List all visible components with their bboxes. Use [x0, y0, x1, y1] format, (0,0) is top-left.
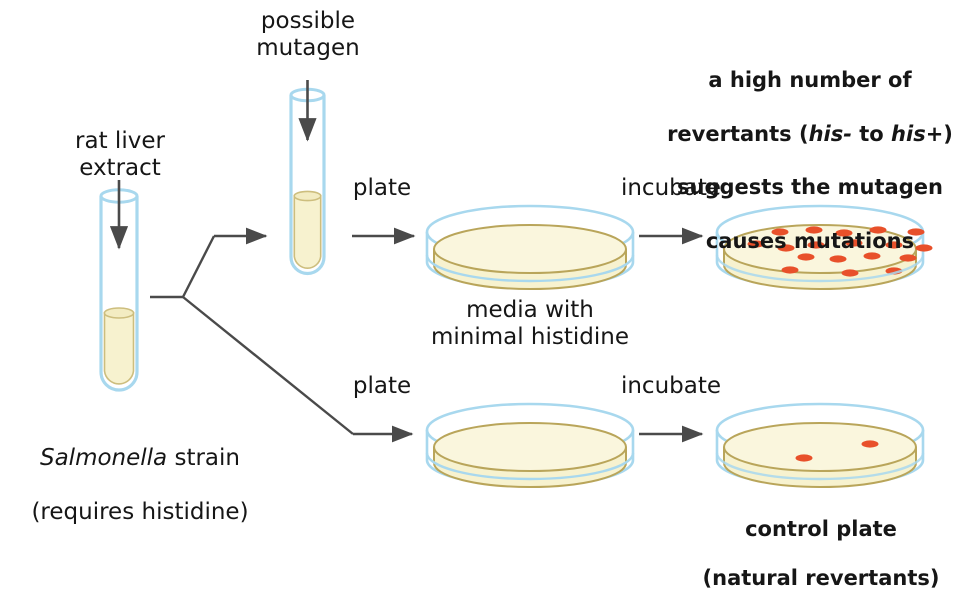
control-plate-caption: control plate (natural revertants) [690, 492, 952, 616]
branch-connector [150, 236, 412, 434]
to-text: to [852, 122, 891, 146]
control-caption-line2: (natural revertants) [690, 566, 952, 591]
colony [862, 440, 879, 447]
salmonella-strain-word: strain [167, 445, 240, 471]
rat-liver-extract-label: rat liver extract [45, 128, 195, 182]
control-plate-before-incubation [427, 404, 633, 487]
conclusion-line-2: revertants (his- to his+) [660, 121, 960, 148]
salmonella-strain-label: Salmonella strain (requires histidine) [10, 418, 270, 554]
his-plus-genotype: his+ [891, 122, 943, 146]
salmonella-test-tube [101, 190, 137, 390]
his-minus-genotype: his- [809, 122, 852, 146]
possible-mutagen-label: possible mutagen [233, 8, 383, 62]
colony [796, 454, 813, 461]
conclusion-line-1: a high number of [660, 67, 960, 94]
plate-label-top: plate [336, 175, 428, 202]
conclusion-line-3: suggests the mutagen [660, 174, 960, 201]
media-caption: media with minimal histidine [400, 297, 660, 351]
revertants-text: revertants ( [667, 122, 809, 146]
mutagen-test-tube [291, 89, 324, 273]
salmonella-genus: Salmonella [40, 445, 167, 471]
incubate-label-bottom: incubate [608, 373, 734, 400]
colony-group-control [796, 440, 879, 461]
salmonella-strain-line2: (requires histidine) [10, 499, 270, 526]
control-caption-line1: control plate [690, 517, 952, 542]
salmonella-strain-line1: Salmonella strain [10, 445, 270, 472]
experimental-plate-before-incubation [427, 206, 633, 289]
conclusion-text: a high number of revertants (his- to his… [660, 40, 960, 282]
conclusion-line-4: causes mutations [660, 228, 960, 255]
control-plate-after-incubation [717, 404, 923, 487]
close-paren: ) [943, 122, 953, 146]
ames-test-diagram: rat liver extract possible mutagen Salmo… [0, 0, 970, 545]
plate-label-bottom: plate [336, 373, 428, 400]
